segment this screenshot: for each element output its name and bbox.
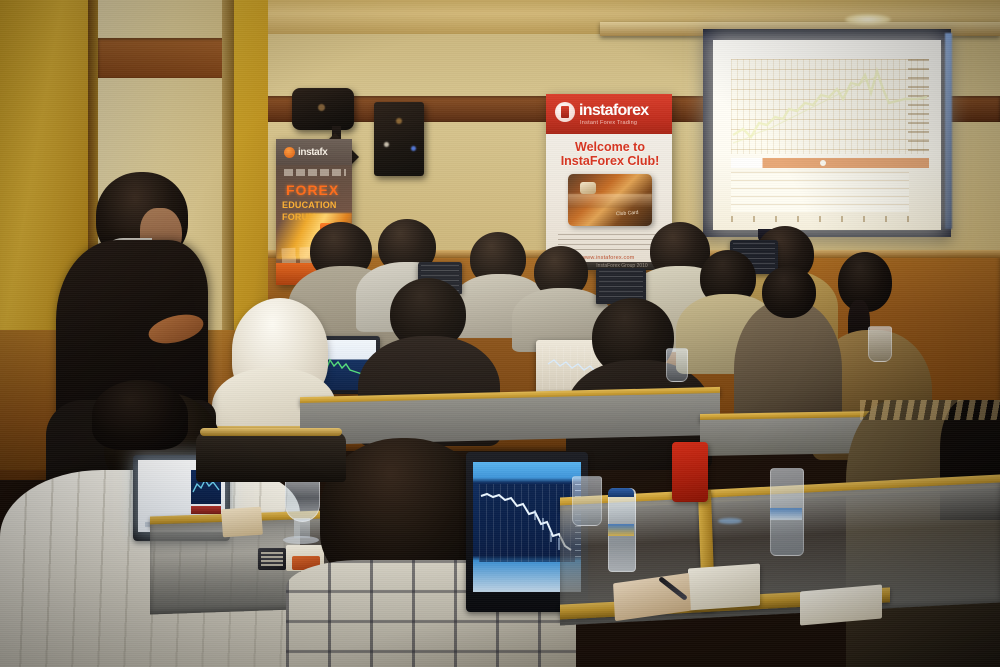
banner-center-headline: Welcome to InstaForex Club! xyxy=(552,140,668,168)
club-card-highlight xyxy=(568,194,652,208)
speaker-driver-icon xyxy=(396,118,402,124)
banner-left-logo-text: instafx xyxy=(298,146,348,159)
laptop-screen xyxy=(599,271,643,301)
seminar-photo-scene: instafx FOREX EDUCATION FORUM FREE insta… xyxy=(0,0,1000,667)
drinking-glass xyxy=(666,348,688,382)
bottle-label xyxy=(608,524,634,536)
projected-indicator-panel xyxy=(731,158,929,168)
bottle-cap-icon xyxy=(608,488,634,497)
wine-glass-base xyxy=(283,536,319,544)
projected-chart-trendline xyxy=(731,59,929,154)
instaforex-logo-glyph xyxy=(561,106,569,118)
banner-center-logo-tagline: Instant Forex Trading xyxy=(580,119,666,127)
speaker-led-icon xyxy=(411,146,416,151)
batik-pattern xyxy=(860,400,1000,420)
headline-line-2: InstaForex Club! xyxy=(561,154,660,168)
speaker-driver-icon xyxy=(318,104,325,111)
club-card-chip-icon xyxy=(580,182,596,194)
laptop-chart-indicator xyxy=(191,506,221,514)
drinking-glass xyxy=(868,326,892,362)
calculator-keys-icon xyxy=(261,552,283,566)
table-reflection xyxy=(718,518,742,524)
banner-left-tagline-bar xyxy=(284,169,346,176)
calculator xyxy=(258,548,286,570)
banner-center-body-text xyxy=(558,234,662,250)
drinking-glass xyxy=(572,476,602,526)
chair-frame-trim xyxy=(200,428,342,436)
banner-left-line1: FOREX xyxy=(286,183,346,198)
notebook xyxy=(800,584,882,625)
ceiling-light xyxy=(845,14,891,25)
projected-marker-dot xyxy=(820,160,826,166)
column-trim-stripe xyxy=(98,38,228,78)
bottle-label xyxy=(770,508,802,520)
wall-speaker-right xyxy=(374,102,424,176)
projected-chart-time-axis xyxy=(731,216,929,222)
headline-line-1: Welcome to xyxy=(575,140,645,154)
notebook xyxy=(688,563,760,610)
instaforex-logo-icon xyxy=(284,147,295,158)
banner-left-line2: EDUCATION FORUM xyxy=(282,199,350,211)
attendee-head-foreground xyxy=(92,380,188,450)
banner-center-logo-text: instaforex xyxy=(579,102,667,119)
attendee-head xyxy=(762,266,816,318)
projected-lower-pane xyxy=(731,172,909,212)
speaker-led-icon xyxy=(384,142,389,147)
chair-back xyxy=(196,432,346,482)
chair-red xyxy=(672,442,708,502)
name-card xyxy=(221,507,263,538)
projection-screen-edge xyxy=(945,33,952,229)
wine-glass-stem xyxy=(294,518,310,538)
projection-screen-roller xyxy=(703,29,951,40)
